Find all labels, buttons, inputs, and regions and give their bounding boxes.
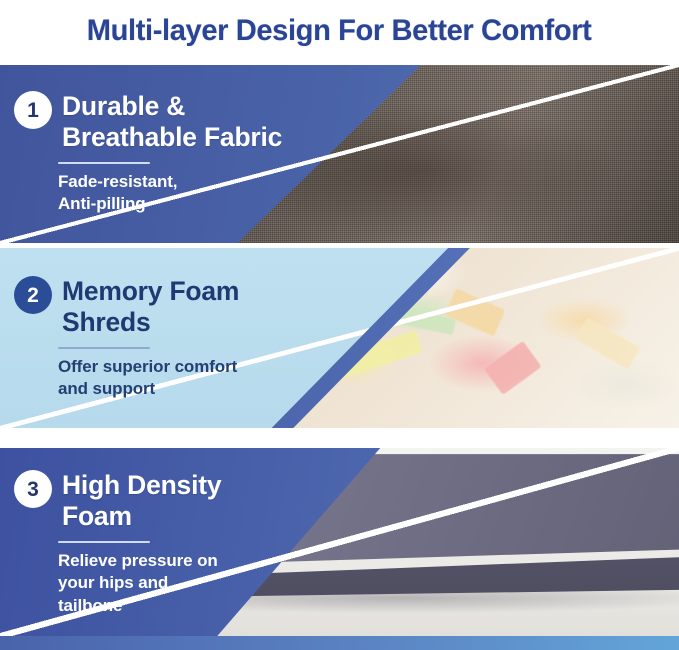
panel-2-subtext-line-1: Offer superior comfort (58, 356, 243, 379)
page-title: Multi-layer Design For Better Comfort (87, 14, 592, 48)
panel-3-subtext: Relieve pressure on your hips and tailbo… (58, 550, 225, 618)
panel-1-divider (58, 162, 150, 164)
panel-3-heading-line-1: High Density (62, 470, 221, 501)
panel-3-heading-line-2: Foam (62, 501, 221, 532)
panel-1-subtext: Fade-resistant, Anti-pilling (58, 171, 287, 216)
panel-1-content: 1 Durable & Breathable Fabric Fade-resis… (14, 91, 287, 216)
panel-3-subtext-line-1: Relieve pressure on (58, 550, 225, 573)
panel-2-subtext: Offer superior comfort and support (58, 356, 243, 401)
shred-piece (484, 342, 541, 396)
panel-1-subtext-line-1: Fade-resistant, (58, 171, 287, 194)
panel-3-subtext-line-3: tailbone (58, 595, 225, 618)
panel-2-heading-line-1: Memory Foam (62, 276, 239, 307)
step-number-2: 2 (14, 276, 52, 314)
panel-2-heading-line-2: Shreds (62, 307, 239, 338)
panel-3-heading: High Density Foam (62, 470, 221, 532)
panel-2-subtext-line-2: and support (58, 378, 243, 401)
feature-panel-2: 2 Memory Foam Shreds Offer superior comf… (0, 248, 679, 428)
panel-gap-2 (0, 428, 679, 433)
panel-2-content: 2 Memory Foam Shreds Offer superior comf… (14, 276, 243, 401)
panel-1-heading: Durable & Breathable Fabric (62, 91, 282, 153)
panel-gap-1 (0, 243, 679, 248)
shred-piece (575, 317, 641, 369)
step-number-1: 1 (14, 91, 52, 129)
panel-3-head-row: 3 High Density Foam (14, 470, 225, 532)
panel-1-heading-line-1: Durable & (62, 91, 282, 122)
panel-3-divider (58, 541, 150, 543)
title-bar: Multi-layer Design For Better Comfort (0, 0, 679, 62)
panel-1-subtext-line-2: Anti-pilling (58, 193, 287, 216)
panel-3-content: 3 High Density Foam Relieve pressure on … (14, 470, 225, 617)
infographic-root: Multi-layer Design For Better Comfort 1 … (0, 0, 679, 650)
panel-2-heading: Memory Foam Shreds (62, 276, 239, 338)
panel-2-head-row: 2 Memory Foam Shreds (14, 276, 243, 338)
panel-1-head-row: 1 Durable & Breathable Fabric (14, 91, 287, 153)
bottom-accent-strip (0, 636, 679, 650)
step-number-3: 3 (14, 470, 52, 508)
panel-2-divider (58, 347, 150, 349)
feature-panel-3: 3 High Density Foam Relieve pressure on … (0, 448, 679, 636)
panel-1-heading-line-2: Breathable Fabric (62, 122, 282, 153)
feature-panel-1: 1 Durable & Breathable Fabric Fade-resis… (0, 65, 679, 243)
panel-3-subtext-line-2: your hips and (58, 572, 225, 595)
